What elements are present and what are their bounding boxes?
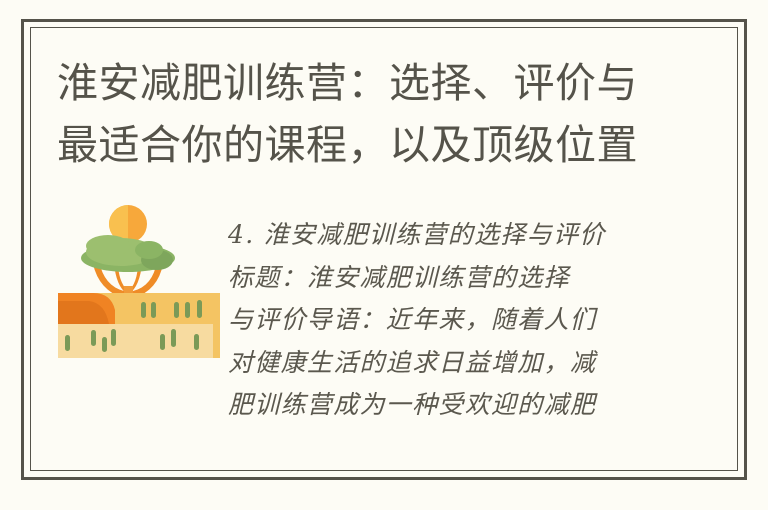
body-line-2: 标题：淮安减肥训练营的选择 <box>228 257 664 300</box>
body-line-5: 肥训练营成为一种受欢迎的减肥 <box>228 384 664 427</box>
title-line-1: 淮安减肥训练营：选择、评价与 <box>57 52 697 114</box>
title-line-2: 最适合你的课程，以及顶级位置 <box>57 114 697 176</box>
article-body: 4. 淮安减肥训练营的选择与评价 标题：淮安减肥训练营的选择 与评价导语：近年来… <box>228 214 664 427</box>
body-line-1: 4. 淮安减肥训练营的选择与评价 <box>228 214 664 257</box>
body-line-4: 对健康生活的追求日益增加，减 <box>228 342 664 385</box>
body-line-3: 与评价导语：近年来，随着人们 <box>228 299 664 342</box>
page-title: 淮安减肥训练营：选择、评价与 最适合你的课程，以及顶级位置 <box>57 52 697 176</box>
savanna-landscape-illustration <box>45 198 221 368</box>
document-page: 淮安减肥训练营：选择、评价与 最适合你的课程，以及顶级位置 <box>0 0 768 510</box>
